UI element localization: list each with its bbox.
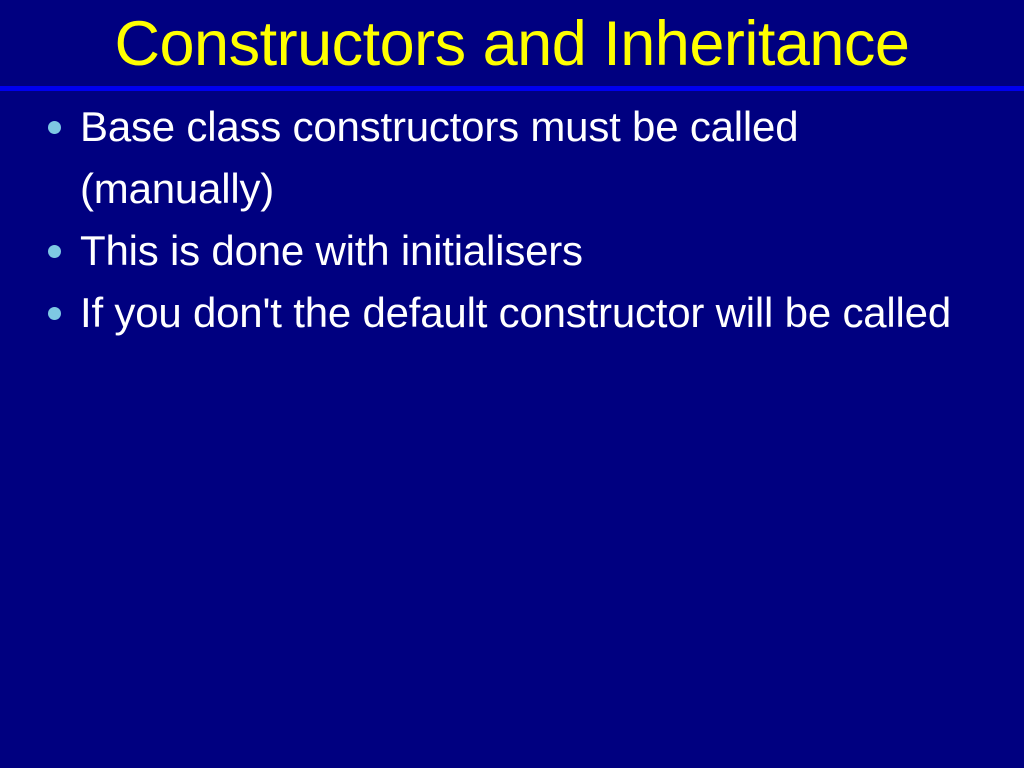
list-item: If you don't the default constructor wil… [0,282,1024,344]
title-divider [0,86,1024,91]
bullet-dot-icon [48,307,61,320]
page-title: Constructors and Inheritance [0,8,1024,80]
list-item-label: This is done with initialisers [80,220,994,282]
list-item-label: Base class constructors must be called (… [80,96,994,220]
list-item-label: If you don't the default constructor wil… [80,282,994,344]
bullet-list: Base class constructors must be called (… [0,96,1024,344]
bullet-dot-icon [48,121,61,134]
slide-canvas: Constructors and Inheritance Base class … [0,0,1024,768]
bullet-dot-icon [48,245,61,258]
list-item: This is done with initialisers [0,220,1024,282]
list-item: Base class constructors must be called (… [0,96,1024,220]
